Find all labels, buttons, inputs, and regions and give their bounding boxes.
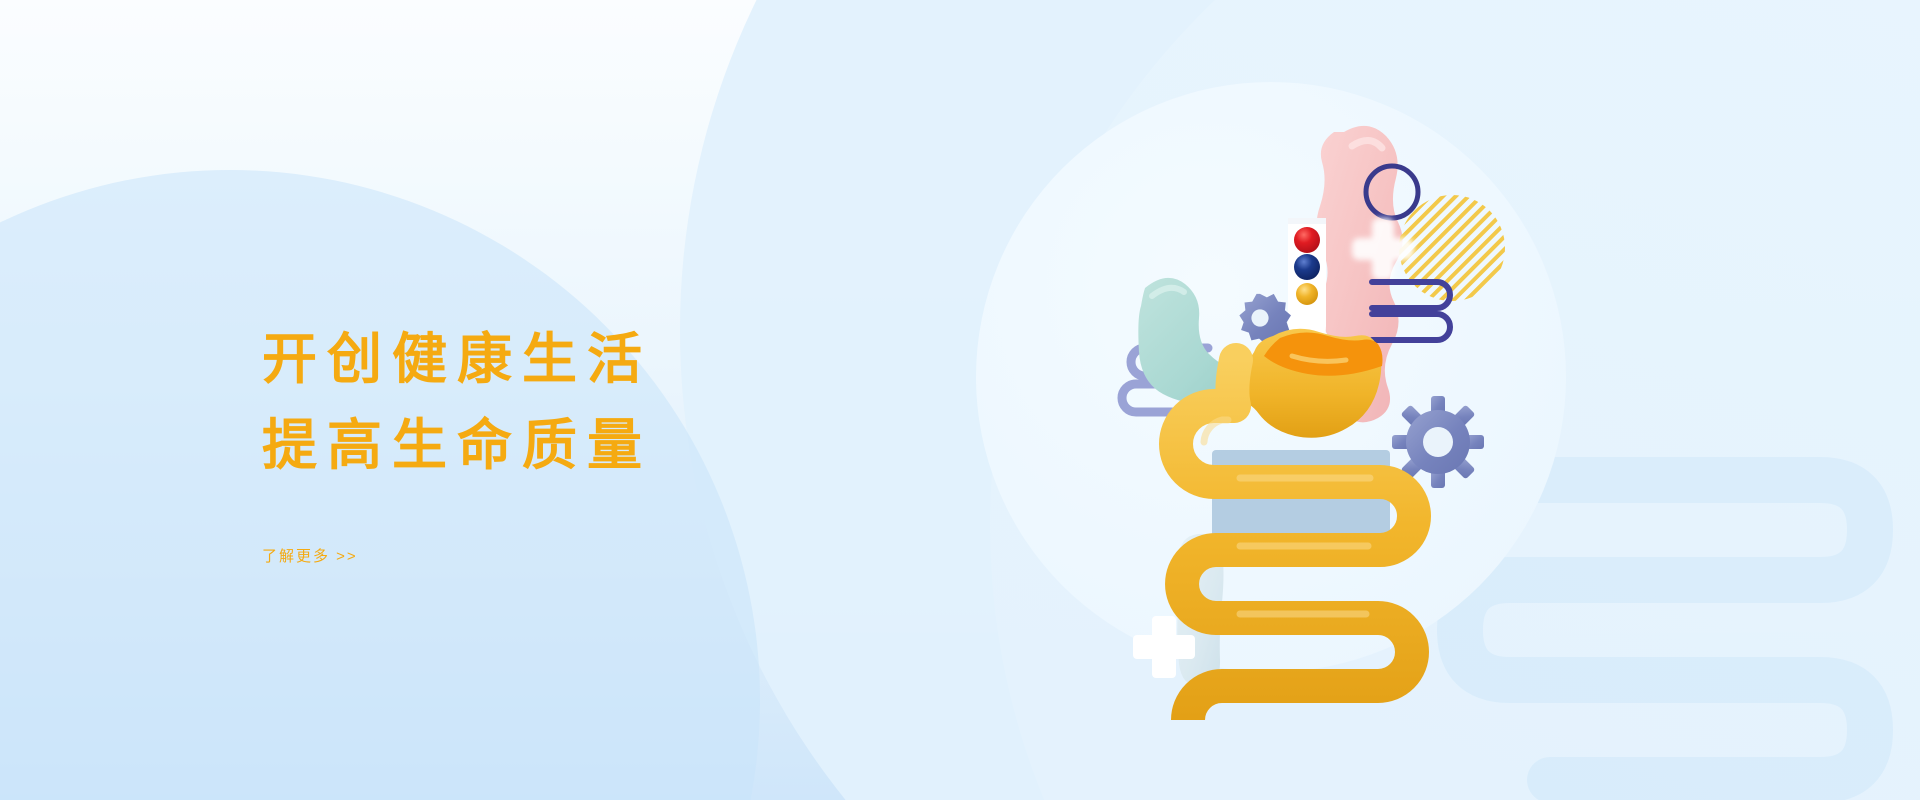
hero-illustration	[940, 60, 1600, 720]
hero-copy: 开创健康生活 提高生命质量 了解更多 >>	[262, 316, 962, 566]
test-tube-dot-red	[1294, 227, 1320, 253]
hero-banner: 开创健康生活 提高生命质量 了解更多 >>	[0, 0, 1920, 800]
test-tube-dot-navy	[1294, 254, 1320, 280]
striped-circle	[1399, 195, 1505, 301]
learn-more-link[interactable]: 了解更多 >>	[262, 545, 358, 566]
illustration-graphic	[940, 60, 1600, 720]
test-tube-dot-yellow	[1296, 283, 1318, 305]
headline-line-1: 开创健康生活	[262, 316, 962, 402]
headline-line-2: 提高生命质量	[262, 402, 962, 488]
